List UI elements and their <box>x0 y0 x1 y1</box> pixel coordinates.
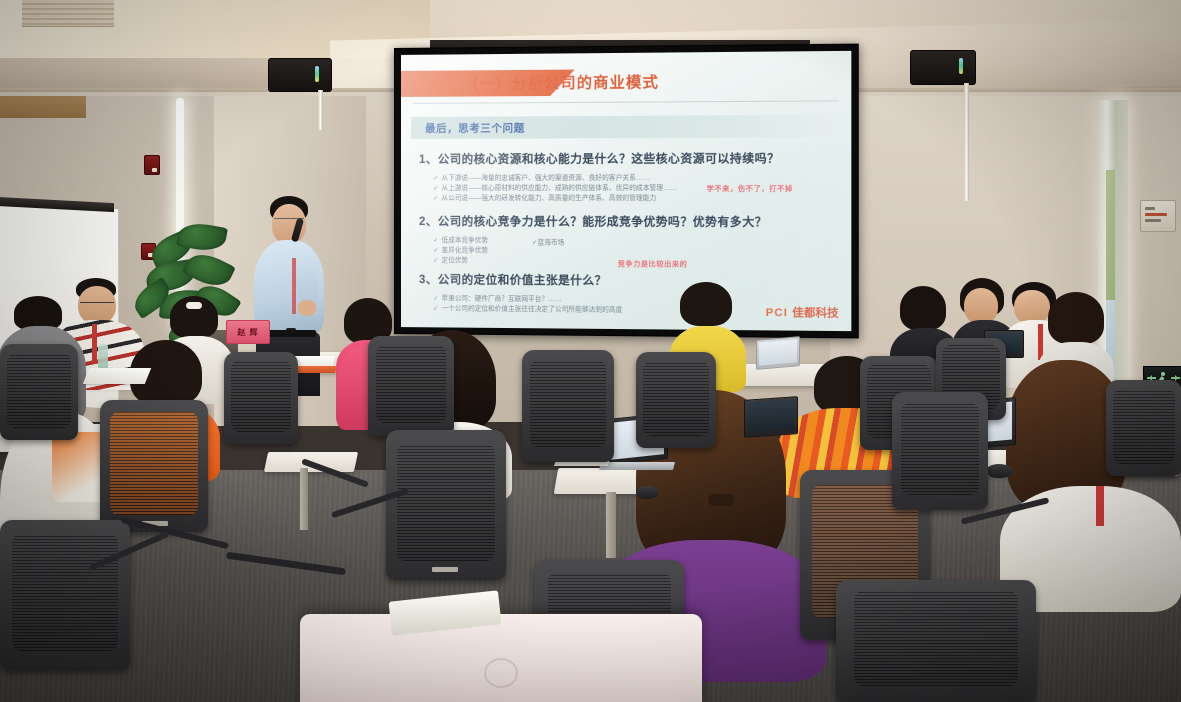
lanyard <box>92 324 97 364</box>
annotation-red: 学不来，伤不了，打不掉 <box>707 184 793 194</box>
office-chair[interactable] <box>386 430 506 580</box>
hair-tie <box>186 302 202 309</box>
ceiling-vent <box>22 0 114 27</box>
speaker-icon <box>910 50 976 85</box>
paper-sheet <box>83 368 151 384</box>
slide-title: （一）分析公司的商业模式 <box>463 71 659 94</box>
classroom-photo-scene: （一）分析公司的商业模式 最后，思考三个问题 1、公司的核心资源和核心能力是什么… <box>0 0 1181 702</box>
office-chair[interactable] <box>892 392 988 510</box>
logo-latin: PCI <box>766 307 788 319</box>
hp-logo-icon <box>484 658 518 688</box>
laptop-base <box>599 462 675 470</box>
laptop[interactable] <box>744 396 798 438</box>
office-chair[interactable] <box>224 352 298 444</box>
title-divider <box>413 100 839 104</box>
lanyard <box>292 258 296 314</box>
pci-logo: PCI 佳都科技 <box>766 304 839 321</box>
office-chair[interactable] <box>836 580 1036 702</box>
office-chair[interactable] <box>100 400 208 532</box>
office-chair[interactable] <box>636 352 716 448</box>
window-foliage <box>1106 170 1115 300</box>
office-chair[interactable] <box>0 520 130 670</box>
office-chair[interactable] <box>368 336 454 436</box>
computer-mouse[interactable] <box>986 464 1012 478</box>
fire-alarm-icon <box>144 155 160 175</box>
speaker-pole <box>964 83 969 201</box>
question-text: 公司的核心资源和核心能力是什么？这些核心资源可以持续吗？ <box>438 153 780 166</box>
bullet-item: ✓从下游说——海量的忠诚客户、强大的渠道资源、良好的客户关系…… <box>433 173 841 184</box>
question-heading: 2、公司的核心竞争力是什么？能形成竞争优势吗？优势有多大？ <box>419 213 841 230</box>
office-chair[interactable] <box>1106 380 1181 476</box>
question-heading: 1、公司的核心资源和核心能力是什么？这些核心资源可以持续吗？ <box>419 150 841 167</box>
office-chair[interactable] <box>522 350 614 462</box>
question-text: 公司的定位和价值主张是什么？ <box>438 274 607 287</box>
question-text: 公司的核心竞争力是什么？能形成竞争优势吗？优势有多大？ <box>438 216 767 229</box>
slide-question-2: 2、公司的核心竞争力是什么？能形成竞争优势吗？优势有多大？ ✓低成本竞争优势 ✓… <box>419 213 841 269</box>
slide-content: （一）分析公司的商业模式 最后，思考三个问题 1、公司的核心资源和核心能力是什么… <box>401 51 851 331</box>
speaker-pole <box>318 90 323 130</box>
hp-laptop[interactable] <box>300 614 702 702</box>
slide-subtitle-band: 最后，思考三个问题 <box>411 115 841 139</box>
name-card-text: 赵 辉 <box>237 327 258 338</box>
bullet-item: ✓蓝海市场 <box>532 236 564 246</box>
slide-subtitle: 最后，思考三个问题 <box>411 120 525 136</box>
table-leg <box>300 468 308 530</box>
lanyard <box>1096 486 1104 526</box>
bullet-item: ✓从公司说——强大的研发转化能力、高质量的生产体系、高效的管理能力 <box>433 194 841 205</box>
hair-tie <box>708 494 734 506</box>
question-number: 3、 <box>419 274 438 286</box>
projection-screen: （一）分析公司的商业模式 最后，思考三个问题 1、公司的核心资源和核心能力是什么… <box>394 44 859 339</box>
question-heading: 3、公司的定位和价值主张是什么？ <box>419 271 841 290</box>
laptop[interactable] <box>756 336 800 370</box>
logo-chinese: 佳都科技 <box>792 307 838 320</box>
wall-control-panel[interactable] <box>1140 200 1176 232</box>
question-number: 2、 <box>419 216 438 228</box>
office-chair[interactable] <box>0 344 78 440</box>
computer-mouse[interactable] <box>636 486 658 499</box>
speaker-icon <box>268 58 332 92</box>
annotation-red: 竞争力是比较出来的 <box>618 259 688 270</box>
wood-trim <box>0 96 86 118</box>
question-number: 1、 <box>419 154 438 166</box>
water-bottle <box>98 344 108 370</box>
slide-question-1: 1、公司的核心资源和核心能力是什么？这些核心资源可以持续吗？ ✓从下游说——海量… <box>419 150 841 205</box>
